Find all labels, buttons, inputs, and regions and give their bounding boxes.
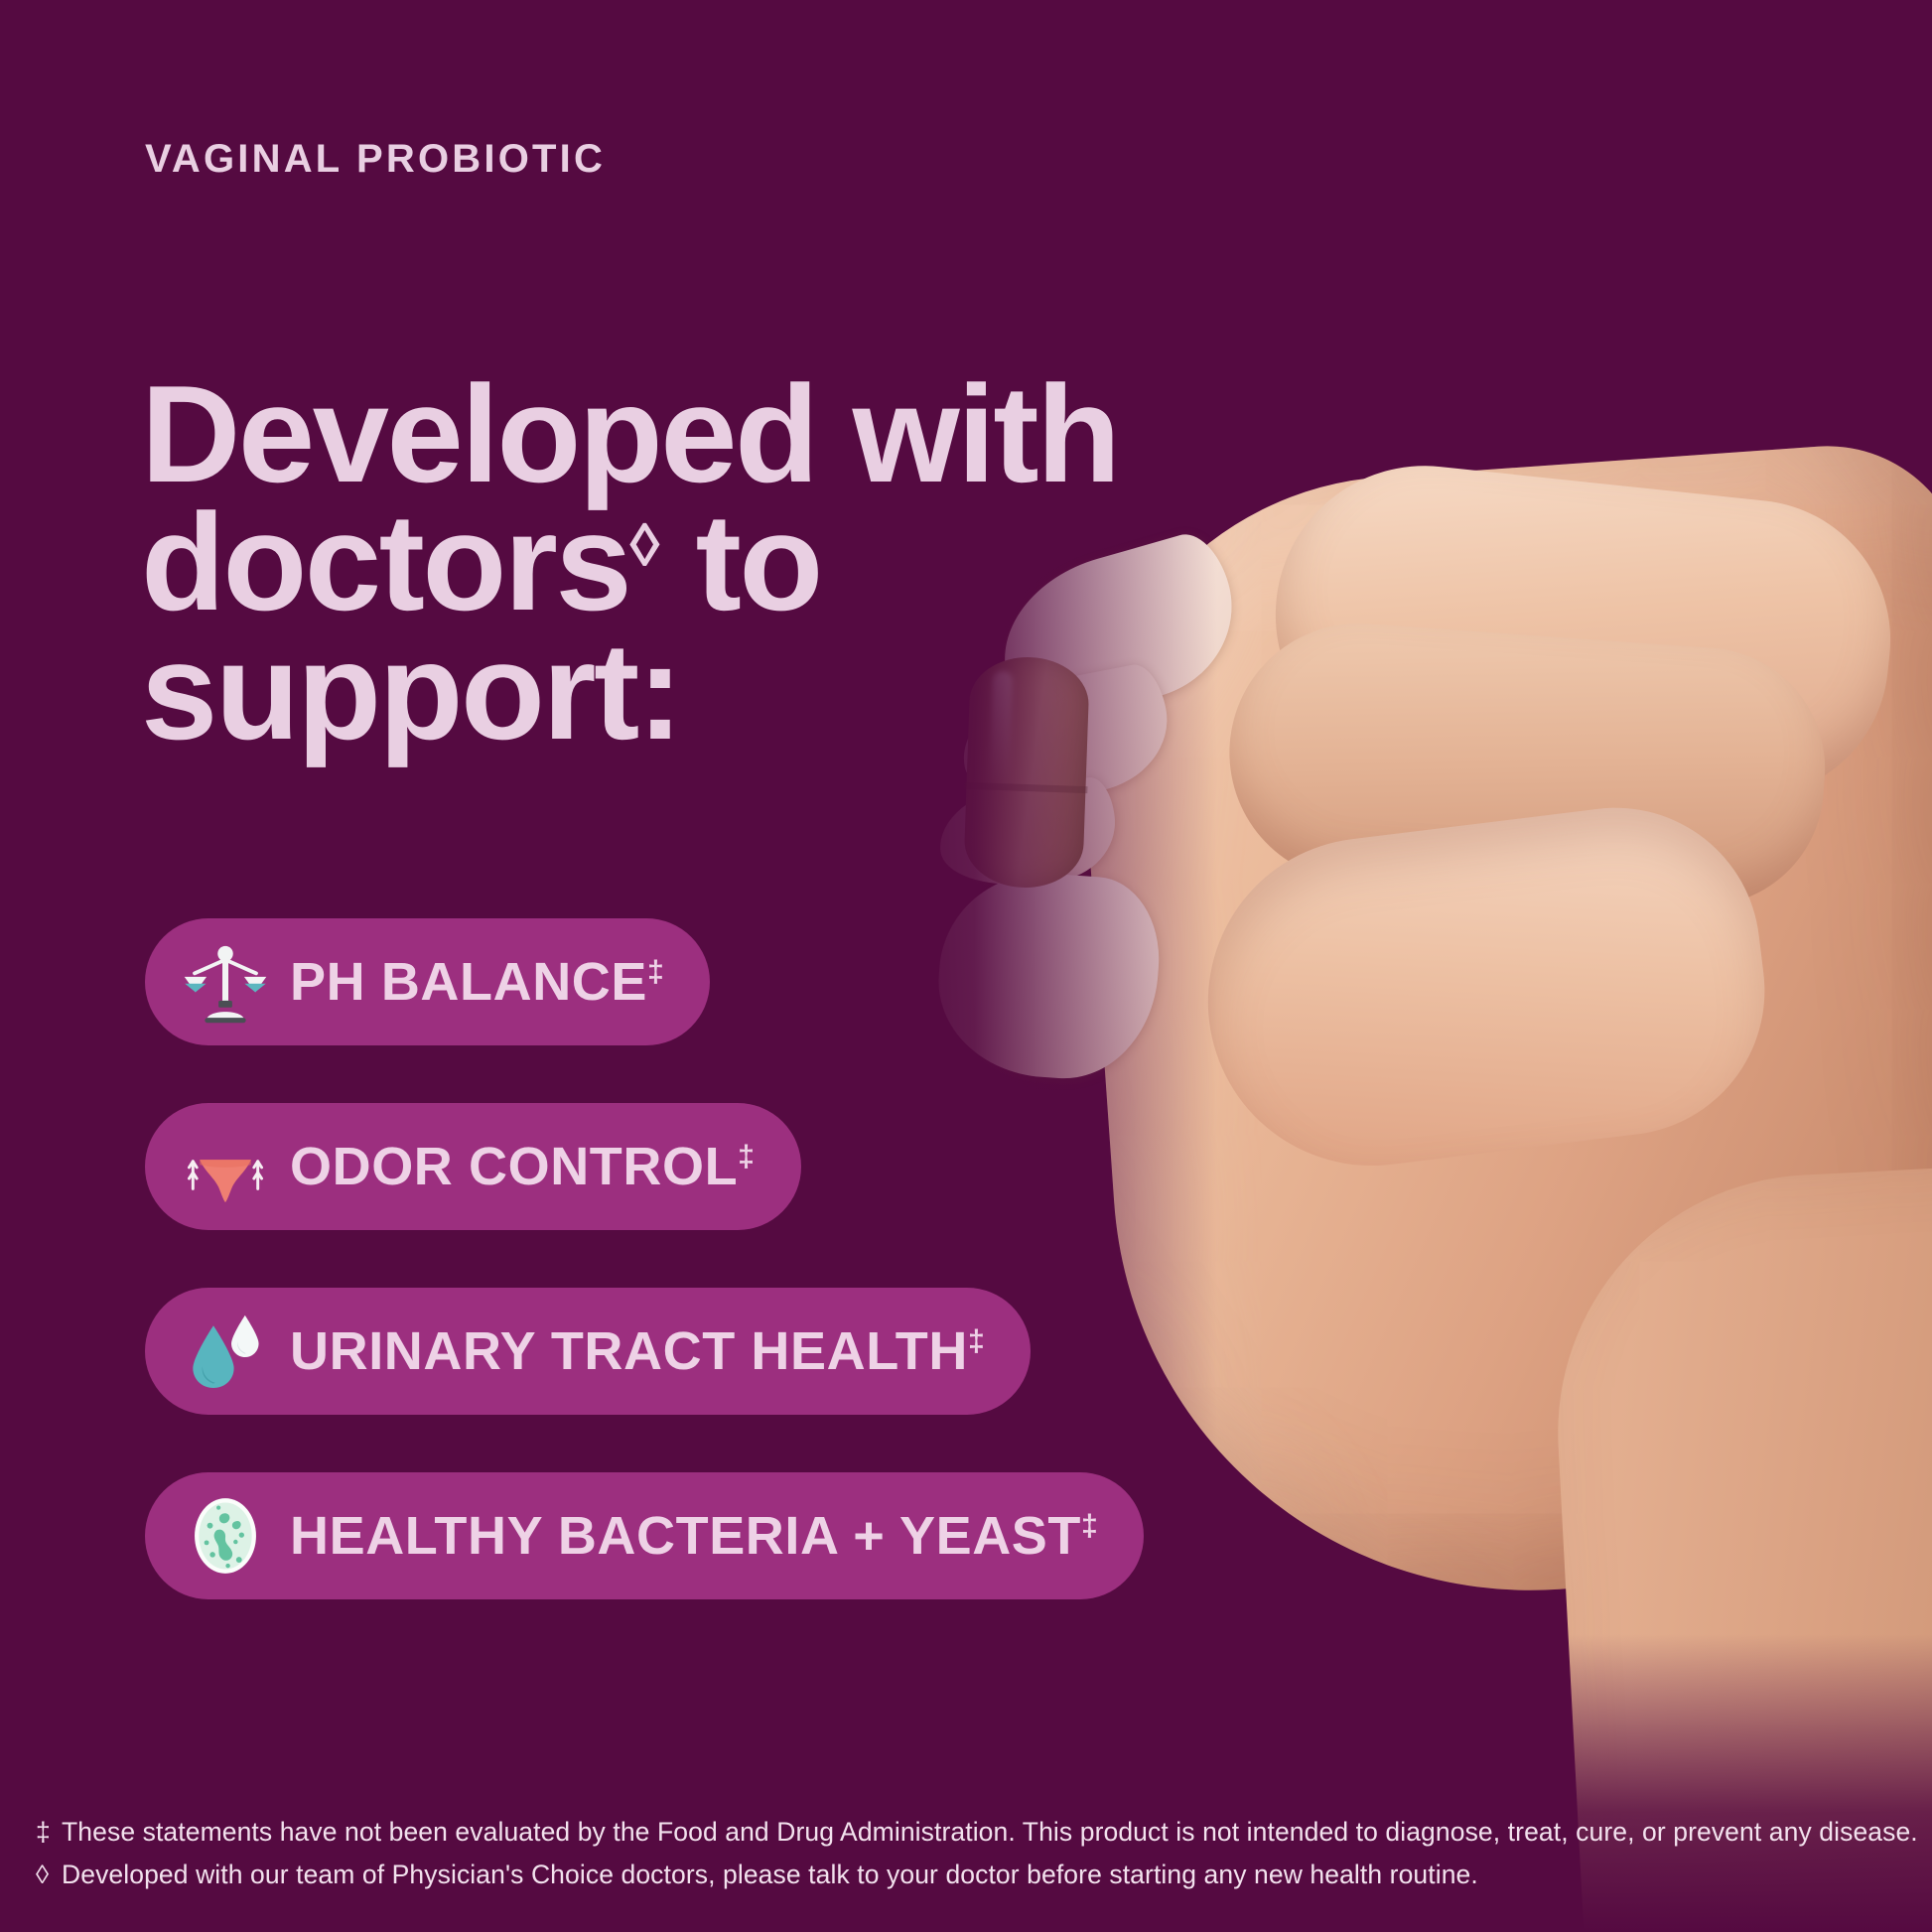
- underwear-icon: [183, 1124, 268, 1209]
- benefit-label: URINARY TRACT HEALTH‡: [290, 1320, 985, 1382]
- benefit-label: ODOR CONTROL‡: [290, 1136, 756, 1197]
- footnote-text: These statements have not been evaluated…: [62, 1817, 1918, 1847]
- benefit-footnote-marker: ‡: [1081, 1509, 1098, 1542]
- benefit-pill-odor-control[interactable]: ODOR CONTROL‡: [145, 1103, 801, 1230]
- footnote-marker: ◊: [36, 1854, 62, 1896]
- benefit-label-text: pH BALANCE: [290, 952, 647, 1012]
- page-title: Developed with doctors◊ to support:: [141, 370, 1243, 756]
- benefit-pill-ph-balance[interactable]: pH BALANCE‡: [145, 918, 710, 1045]
- content-layer: VAGINAL PROBIOTIC Developed with doctors…: [0, 0, 1932, 1932]
- footnote-dagger: ‡These statements have not been evaluate…: [36, 1811, 1902, 1854]
- eyebrow-label: VAGINAL PROBIOTIC: [145, 137, 606, 182]
- benefit-footnote-marker: ‡: [968, 1324, 985, 1357]
- headline-line-3: support:: [141, 615, 681, 768]
- benefit-label: pH BALANCE‡: [290, 951, 664, 1013]
- footnotes: ‡These statements have not been evaluate…: [36, 1811, 1902, 1896]
- benefit-footnote-marker: ‡: [647, 955, 664, 988]
- benefit-label-text: ODOR CONTROL: [290, 1137, 738, 1196]
- benefit-pill-healthy-bacteria-yeast[interactable]: HEALTHY BACTERIA + YEAST‡: [145, 1472, 1144, 1599]
- benefit-label: HEALTHY BACTERIA + YEAST‡: [290, 1505, 1098, 1567]
- benefit-label-text: HEALTHY BACTERIA + YEAST: [290, 1506, 1081, 1566]
- bacteria-petri-dish-icon: [183, 1493, 268, 1579]
- benefit-label-text: URINARY TRACT HEALTH: [290, 1321, 968, 1381]
- balance-scale-icon: [183, 939, 268, 1025]
- benefit-pill-urinary-tract-health[interactable]: URINARY TRACT HEALTH‡: [145, 1288, 1031, 1415]
- footnote-lozenge: ◊Developed with our team of Physician's …: [36, 1854, 1902, 1896]
- water-drop-icon: [183, 1309, 268, 1394]
- benefit-pill-list: pH BALANCE‡: [145, 918, 1144, 1657]
- footnote-text: Developed with our team of Physician's C…: [62, 1860, 1478, 1889]
- ad-canvas: VAGINAL PROBIOTIC Developed with doctors…: [0, 0, 1932, 1932]
- footnote-marker: ‡: [36, 1811, 62, 1854]
- headline-line-2-tail: to: [659, 485, 820, 639]
- benefit-footnote-marker: ‡: [738, 1140, 755, 1173]
- doctors-footnote-marker: ◊: [629, 511, 659, 579]
